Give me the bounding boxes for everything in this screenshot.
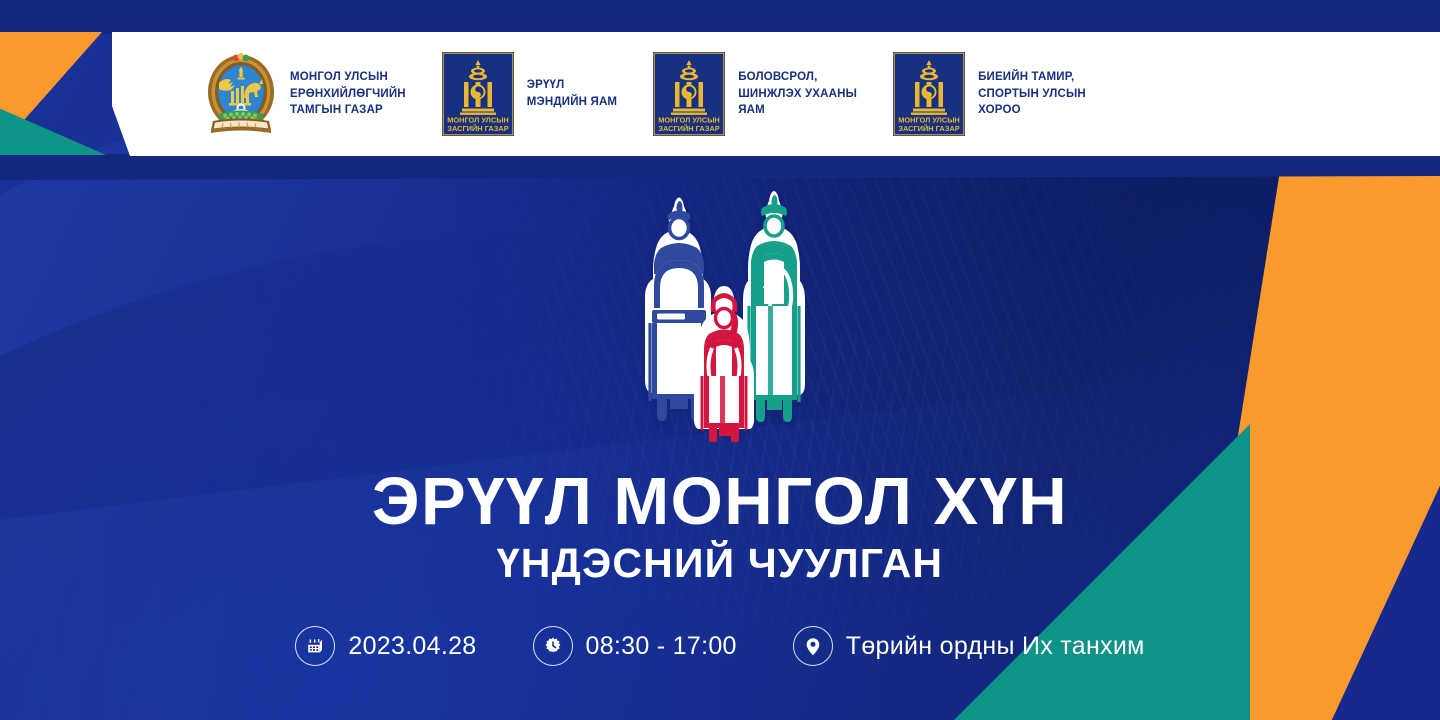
navy-strip-under-header	[0, 154, 1440, 180]
event-banner: МОНГОЛ УЛСЫН ЕРӨНХИЙЛӨГЧИЙН ТАМГЫН ГАЗАР	[0, 0, 1440, 720]
navy-strip-top	[0, 0, 1440, 34]
info-time-value: 08:30 - 17:00	[586, 632, 737, 661]
calendar-icon	[295, 626, 335, 666]
three-mongolian-figures-icon	[608, 190, 840, 442]
logo-label: БОЛОВСРОЛ, ШИНЖЛЭХ УХААНЫ ЯАМ	[738, 69, 857, 119]
event-title: ЭРҮҮЛ МОНГОЛ ХҮН	[0, 468, 1440, 535]
logo-label: БИЕИЙН ТАМИР, СПОРТЫН УЛСЫН ХОРОО	[978, 69, 1086, 119]
info-item-time: 08:30 - 17:00	[533, 626, 737, 666]
logo-ministry-of-health[interactable]: МОНГОЛ УЛСЫН ЗАСГИЙН ГАЗАР ЭРҮҮЛ МЭНДИЙН…	[442, 52, 617, 136]
info-item-location: Төрийн ордны Их танхим	[793, 626, 1145, 666]
location-pin-icon	[793, 626, 833, 666]
logo-label: ЭРҮҮЛ МЭНДИЙН ЯАМ	[527, 77, 617, 110]
gov-crest-line2: ЗАСГИЙН ГАЗАР	[659, 124, 720, 133]
logo-sports-committee[interactable]: МОНГОЛ УЛСЫН ЗАСГИЙН ГАЗАР БИЕИЙН ТАМИР,…	[893, 52, 1086, 136]
event-subtitle: ҮНДЭСНИЙ ЧУУЛГАН	[0, 543, 1440, 584]
info-item-date: 2023.04.28	[295, 626, 476, 666]
mongolia-government-soyombo-icon: МОНГОЛ УЛСЫН ЗАСГИЙН ГАЗАР	[442, 52, 514, 136]
mongolia-government-soyombo-icon: МОНГОЛ УЛСЫН ЗАСГИЙН ГАЗАР	[653, 52, 725, 136]
mongolia-government-soyombo-icon: МОНГОЛ УЛСЫН ЗАСГИЙН ГАЗАР	[893, 52, 965, 136]
logo-label: МОНГОЛ УЛСЫН ЕРӨНХИЙЛӨГЧИЙН ТАМГЫН ГАЗАР	[290, 69, 406, 119]
partner-logo-header: МОНГОЛ УЛСЫН ЕРӨНХИЙЛӨГЧИЙН ТАМГЫН ГАЗАР	[0, 32, 1440, 156]
clock-icon	[533, 626, 573, 666]
gov-crest-line2: ЗАСГИЙН ГАЗАР	[447, 124, 508, 133]
logo-president-office[interactable]: МОНГОЛ УЛСЫН ЕРӨНХИЙЛӨГЧИЙН ТАМГЫН ГАЗАР	[205, 48, 406, 140]
event-info-bar: 2023.04.28 08:30 - 17:00	[0, 626, 1440, 666]
info-location-value: Төрийн ордны Их танхим	[846, 632, 1145, 661]
gov-crest-line2: ЗАСГИЙН ГАЗАР	[898, 124, 959, 133]
mongolia-state-emblem-icon	[205, 48, 277, 140]
logo-row: МОНГОЛ УЛСЫН ЕРӨНХИЙЛӨГЧИЙН ТАМГЫН ГАЗАР	[205, 48, 1086, 140]
info-date-value: 2023.04.28	[348, 632, 476, 661]
logo-ministry-of-education-science[interactable]: МОНГОЛ УЛСЫН ЗАСГИЙН ГАЗАР БОЛОВСРОЛ, ШИ…	[653, 52, 857, 136]
